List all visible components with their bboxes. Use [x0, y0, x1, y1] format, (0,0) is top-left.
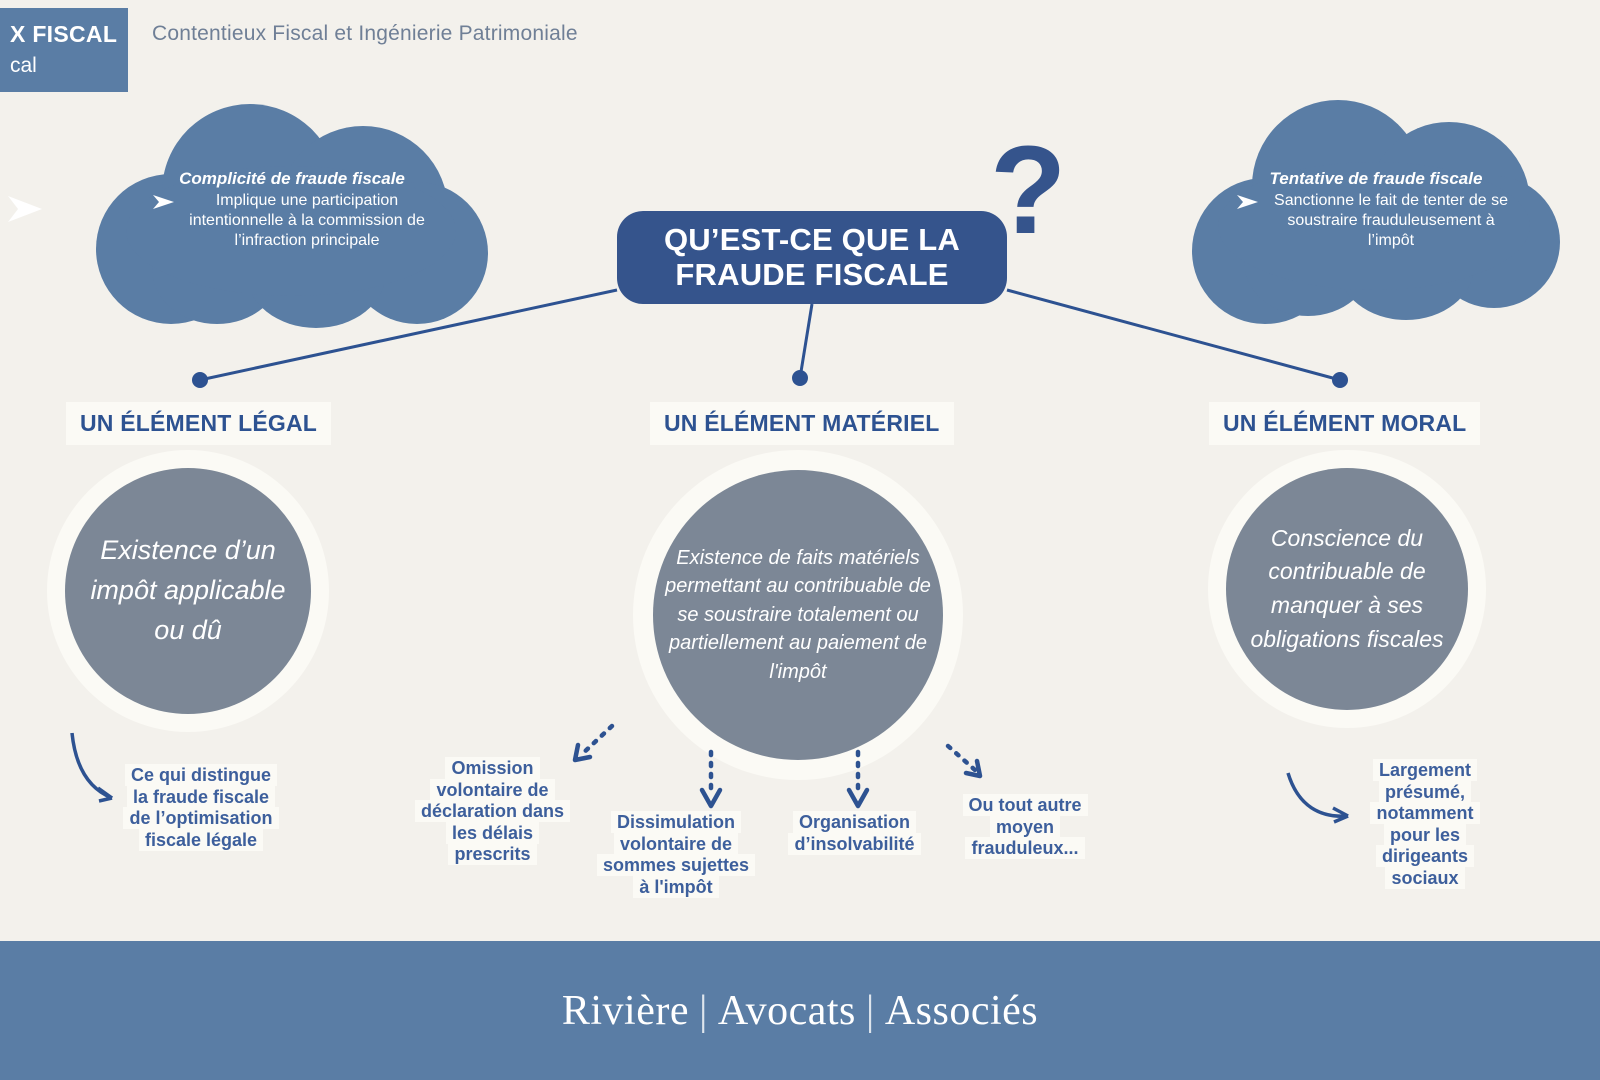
column-label-materiel: UN ÉLÉMENT MATÉRIEL: [650, 402, 954, 445]
note-arrows: [0, 0, 1600, 1080]
column-label-moral: UN ÉLÉMENT MORAL: [1209, 402, 1480, 445]
column-label-legal: UN ÉLÉMENT LÉGAL: [66, 402, 331, 445]
note-legal: Ce qui distingue la fraude fiscale de l’…: [120, 765, 282, 851]
central-title-line1: QU’EST-CE QUE LA: [664, 223, 960, 258]
note-insolvabilite: Organisation d’insolvabilité: [772, 812, 937, 855]
note-dissimulation: Dissimulation volontaire de sommes sujet…: [596, 812, 756, 898]
note-autre-moyen-text: Ou tout autre moyen frauduleux...: [963, 794, 1088, 859]
note-moral: Largement présumé, notamment pour les di…: [1355, 760, 1495, 890]
note-omission: Omission volontaire de déclaration dans …: [410, 758, 575, 866]
note-dissimulation-text: Dissimulation volontaire de sommes sujet…: [597, 811, 755, 898]
note-legal-text: Ce qui distingue la fraude fiscale de l’…: [123, 764, 278, 851]
note-insolvabilite-text: Organisation d’insolvabilité: [788, 811, 920, 855]
central-topic-node: QU’EST-CE QUE LA FRAUDE FISCALE: [617, 211, 1007, 304]
central-topic-text: QU’EST-CE QUE LA FRAUDE FISCALE: [664, 223, 960, 292]
note-moral-text: Largement présumé, notamment pour les di…: [1370, 759, 1479, 889]
infographic-canvas: X FISCAL cal Contentieux Fiscal et Ingén…: [0, 0, 1600, 1080]
note-autre-moyen: Ou tout autre moyen frauduleux...: [951, 795, 1099, 860]
central-title-line2: FRAUDE FISCALE: [664, 258, 960, 293]
note-omission-text: Omission volontaire de déclaration dans …: [415, 757, 570, 865]
